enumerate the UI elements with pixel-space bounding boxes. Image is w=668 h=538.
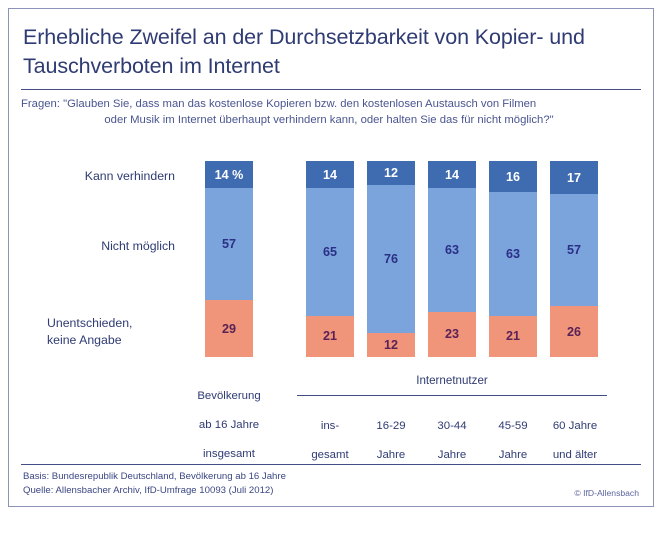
footer-source: Basis: Bundesrepublik Deutschland, Bevöl… xyxy=(23,470,286,497)
row-label-unentschieden: Unentschieden, keine Angabe xyxy=(47,315,195,349)
axis-label-insgesamt: ins- gesamt xyxy=(295,404,365,462)
row-label-kann-verhindern: Kann verhindern xyxy=(27,168,175,185)
segment-nicht-moeglich: 63 xyxy=(428,188,476,311)
axis-label-60-jahre-und-aelter: 60 Jahre und älter xyxy=(537,404,613,462)
footer-divider xyxy=(21,464,641,465)
segment-kann-verhindern: 14 xyxy=(306,161,354,188)
axis-label-line-3: insgesamt xyxy=(203,448,255,460)
axis-label-16-29-jahre: 16-29 Jahre xyxy=(356,404,426,462)
axis-label-30-44-jahre: 30-44 Jahre xyxy=(417,404,487,462)
segment-kann-verhindern: 14 xyxy=(428,161,476,188)
segment-unentschieden: 21 xyxy=(306,316,354,357)
segment-nicht-moeglich: 76 xyxy=(367,185,415,334)
row-label-unentschieden-line-1: Unentschieden, xyxy=(47,316,132,330)
segment-nicht-moeglich: 57 xyxy=(550,194,598,306)
segment-unentschieden: 23 xyxy=(428,312,476,357)
segment-kann-verhindern: 12 xyxy=(367,161,415,185)
bar-30-44-jahre[interactable]: 14 63 23 xyxy=(428,161,476,357)
bar-60-jahre-und-aelter[interactable]: 17 57 26 xyxy=(550,161,598,357)
footer-basis: Basis: Bundesrepublik Deutschland, Bevöl… xyxy=(23,470,286,484)
axis-label-line-2: Jahre xyxy=(499,449,528,461)
axis-label-line-1: Bevölkerung xyxy=(197,390,260,402)
row-label-unentschieden-line-2: keine Angabe xyxy=(47,333,122,347)
segment-nicht-moeglich: 65 xyxy=(306,188,354,315)
stacked-bar-chart: Kann verhindern Nicht möglich Unentschie… xyxy=(9,9,655,508)
axis-label-line-1: 45-59 xyxy=(498,420,527,432)
segment-nicht-moeglich: 63 xyxy=(489,192,537,315)
axis-label-line-2: ab 16 Jahre xyxy=(199,419,259,431)
segment-nicht-moeglich: 57 xyxy=(205,188,253,300)
segment-unentschieden: 21 xyxy=(489,316,537,357)
bar-16-29-jahre[interactable]: 12 76 12 xyxy=(367,161,415,357)
bar-45-59-jahre[interactable]: 16 63 21 xyxy=(489,161,537,357)
axis-label-line-1: 30-44 xyxy=(437,420,466,432)
chart-frame: Erhebliche Zweifel an der Durchsetzbarke… xyxy=(8,8,654,507)
axis-label-line-2: gesamt xyxy=(311,449,348,461)
axis-label-line-2: Jahre xyxy=(438,449,467,461)
axis-label-line-1: ins- xyxy=(321,420,339,432)
segment-unentschieden: 29 xyxy=(205,300,253,357)
copyright-notice: © IfD-Allensbach xyxy=(574,488,639,498)
group-label-internetnutzer: Internetnutzer xyxy=(297,374,607,387)
footer-quelle: Quelle: Allensbacher Archiv, IfD-Umfrage… xyxy=(23,484,286,498)
group-bracket-line xyxy=(297,395,607,396)
segment-kann-verhindern: 16 xyxy=(489,161,537,192)
segment-kann-verhindern: 14 % xyxy=(205,161,253,188)
axis-label-line-2: Jahre xyxy=(377,449,406,461)
segment-unentschieden: 26 xyxy=(550,306,598,357)
segment-kann-verhindern: 17 xyxy=(550,161,598,194)
axis-label-line-1: 16-29 xyxy=(376,420,405,432)
bar-internetnutzer-insgesamt[interactable]: 14 65 21 xyxy=(306,161,354,357)
segment-unentschieden: 12 xyxy=(367,333,415,357)
bar-bevoelkerung-insgesamt[interactable]: 14 % 57 29 xyxy=(205,161,253,357)
row-label-nicht-moeglich: Nicht möglich xyxy=(27,238,175,255)
axis-label-bevoelkerung-insgesamt: Bevölkerung ab 16 Jahre insgesamt xyxy=(177,374,281,461)
axis-label-line-1: 60 Jahre xyxy=(553,420,597,432)
axis-label-line-2: und älter xyxy=(553,449,597,461)
